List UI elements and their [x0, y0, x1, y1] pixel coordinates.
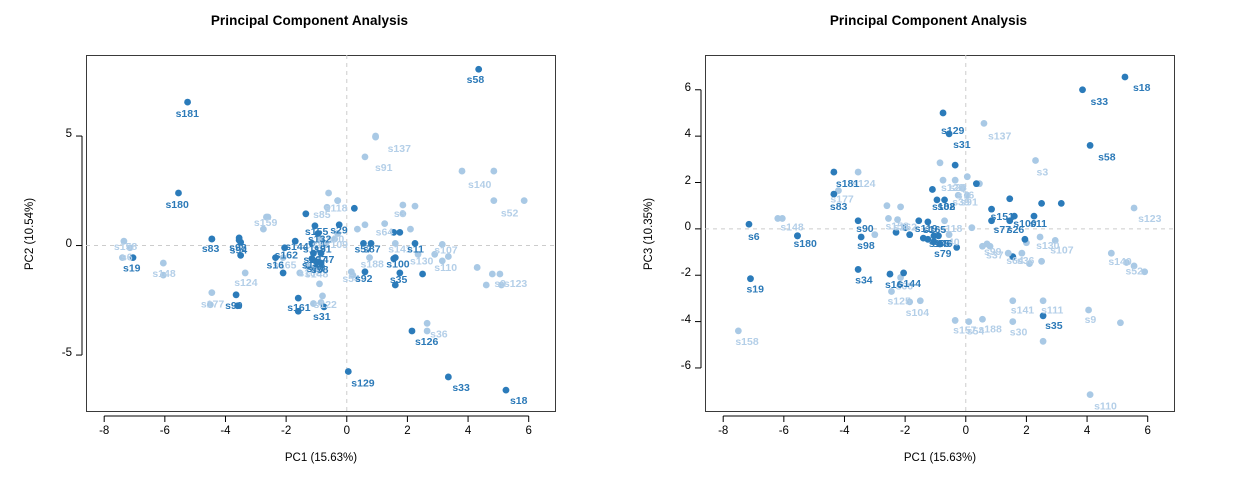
y-tick-label: -4 [663, 314, 691, 326]
x-tick-label: 4 [1073, 425, 1101, 437]
x-tick-label: 4 [454, 425, 482, 437]
pca-panel-pc1-pc2: Principal Component Analysis s137s91s140… [0, 0, 619, 500]
y-tick-label: -2 [663, 267, 691, 279]
x-tick-label: 2 [1012, 425, 1040, 437]
y-tick-label: -6 [663, 360, 691, 372]
x-tick-label: -4 [211, 425, 239, 437]
x-axis-label-left: PC1 (15.63%) [86, 452, 556, 464]
y-tick-label: 2 [663, 175, 691, 187]
x-tick-label: 2 [393, 425, 421, 437]
y-tick-label: 5 [44, 128, 72, 140]
y-tick-label: 6 [663, 82, 691, 94]
y-tick-label: 0 [663, 221, 691, 233]
x-tick-label: 6 [515, 425, 543, 437]
x-tick-label: -8 [90, 425, 118, 437]
x-tick-label: -2 [891, 425, 919, 437]
y-tick-label: -5 [44, 347, 72, 359]
x-tick-label: 0 [952, 425, 980, 437]
x-tick-label: -2 [272, 425, 300, 437]
x-tick-label: -6 [770, 425, 798, 437]
x-tick-label: -6 [151, 425, 179, 437]
y-axis-label-left: PC2 (10.54%) [24, 197, 36, 269]
x-tick-label: -4 [830, 425, 858, 437]
x-tick-label: 0 [333, 425, 361, 437]
figure-canvas: Principal Component Analysis s137s91s140… [0, 0, 1238, 500]
x-tick-label: 6 [1134, 425, 1162, 437]
pca-panel-pc1-pc3: Principal Component Analysis s137s124s12… [619, 0, 1238, 500]
y-tick-label: 0 [44, 238, 72, 250]
y-axis-label-right: PC3 (10.35%) [643, 197, 655, 269]
y-tick-label: 4 [663, 128, 691, 140]
x-tick-label: -8 [709, 425, 737, 437]
x-axis-label-right: PC1 (15.63%) [705, 452, 1175, 464]
